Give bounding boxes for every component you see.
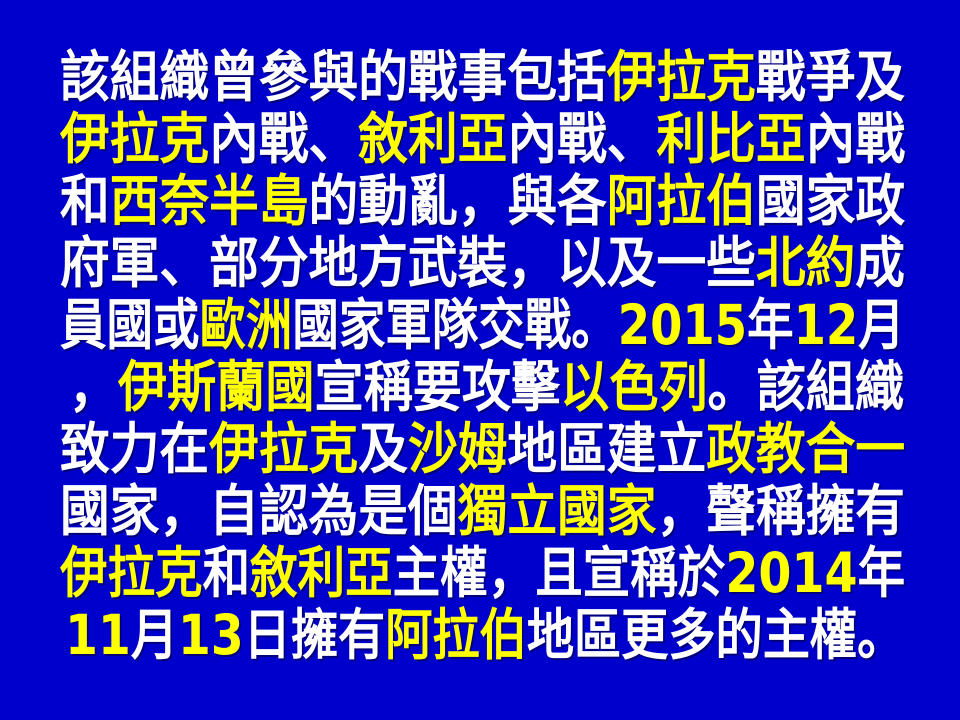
text-run-plain: 員國或	[60, 293, 199, 357]
text-run-highlight: 12	[794, 293, 859, 357]
text-run-plain: 成	[855, 231, 905, 295]
text-line-6: ，伊斯蘭國宣稱要攻擊以色列。該組織	[60, 356, 904, 418]
text-line-9: 伊拉克和敘利亞主權，且宣稱於2014年	[60, 542, 905, 604]
text-run-highlight: 敘利亞	[358, 107, 507, 171]
text-run-plain: 的動亂，與各	[309, 169, 607, 233]
text-run-plain: 致力在	[60, 417, 209, 481]
text-run-plain: 戰爭及	[756, 45, 905, 109]
text-line-5: 員國或歐洲國家軍隊交戰。2015年12月	[60, 294, 905, 356]
text-run-highlight: 13	[178, 603, 244, 667]
text-run-highlight: 獨立國家	[458, 479, 657, 543]
text-run-plain: 和	[60, 169, 110, 233]
text-run-highlight: 伊拉克	[60, 107, 209, 171]
text-line-10: 11月13日擁有阿拉伯地區更多的主權。	[60, 604, 904, 666]
text-run-plain: 府軍、部分地方武裝，以及一些	[60, 231, 756, 295]
text-run-plain: 及	[358, 417, 408, 481]
text-run-plain: ，聲稱擁有	[656, 479, 905, 543]
text-run-highlight: 利比亞	[656, 107, 805, 171]
text-run-plain: 年	[858, 541, 906, 605]
text-run-plain: 國家政	[756, 169, 905, 233]
presentation-slide: 該組織曾參與的戰事包括伊拉克戰爭及伊拉克內戰、敘利亞內戰、利比亞內戰和西奈半島的…	[0, 0, 960, 720]
text-run-highlight: 西奈半島	[110, 169, 309, 233]
text-run-highlight: 伊拉克	[209, 417, 358, 481]
text-run-plain: 月	[858, 293, 904, 357]
text-run-highlight: 政教合一	[706, 417, 905, 481]
text-run-plain: 地區建立	[507, 417, 706, 481]
text-run-plain: 。該組織	[707, 355, 903, 419]
text-run-plain: 內戰、	[209, 107, 358, 171]
text-run-plain: 和	[203, 541, 251, 605]
text-run-plain: 宣稱要攻擊	[315, 355, 561, 419]
text-run-plain: 該組織曾參與的戰事包括	[60, 45, 607, 109]
text-line-1: 該組織曾參與的戰事包括伊拉克戰爭及	[60, 46, 905, 108]
text-run-plain: 內戰	[806, 107, 905, 171]
text-line-7: 致力在伊拉克及沙姆地區建立政教合一	[60, 418, 905, 480]
text-run-highlight: 以色列	[560, 355, 707, 419]
text-run-plain: 月	[131, 603, 178, 667]
text-run-highlight: 北約	[756, 231, 855, 295]
text-run-plain: 內戰、	[507, 107, 656, 171]
text-run-plain: 地區更多的主權。	[527, 603, 904, 667]
text-run-highlight: 伊拉克	[60, 541, 203, 605]
slide-body-text: 該組織曾參與的戰事包括伊拉克戰爭及伊拉克內戰、敘利亞內戰、利比亞內戰和西奈半島的…	[60, 46, 905, 666]
text-run-highlight: 2014	[725, 541, 857, 605]
text-run-plain: 國家，自認為是個	[60, 479, 458, 543]
text-line-8: 國家，自認為是個獨立國家，聲稱擁有	[60, 480, 905, 542]
text-run-highlight: 伊拉克	[607, 45, 756, 109]
text-line-2: 伊拉克內戰、敘利亞內戰、利比亞內戰	[60, 108, 905, 170]
text-run-highlight: 沙姆	[408, 417, 507, 481]
text-run-highlight: 2015	[618, 293, 747, 357]
text-run-plain: ，	[69, 355, 118, 419]
text-line-3: 和西奈半島的動亂，與各阿拉伯國家政	[60, 170, 905, 232]
text-run-highlight: 11	[65, 603, 131, 667]
text-run-highlight: 阿拉伯	[385, 603, 527, 667]
text-run-plain: 國家軍隊交戰。	[292, 293, 617, 357]
text-run-plain: 年	[747, 293, 793, 357]
text-line-4: 府軍、部分地方武裝，以及一些北約成	[60, 232, 905, 294]
text-run-plain: 日擁有	[244, 603, 386, 667]
text-run-highlight: 伊斯蘭國	[118, 355, 314, 419]
text-run-highlight: 敘利亞	[250, 541, 393, 605]
text-run-highlight: 歐洲	[199, 293, 292, 357]
text-run-highlight: 阿拉伯	[607, 169, 756, 233]
text-run-plain: 主權，且宣稱於	[393, 541, 726, 605]
